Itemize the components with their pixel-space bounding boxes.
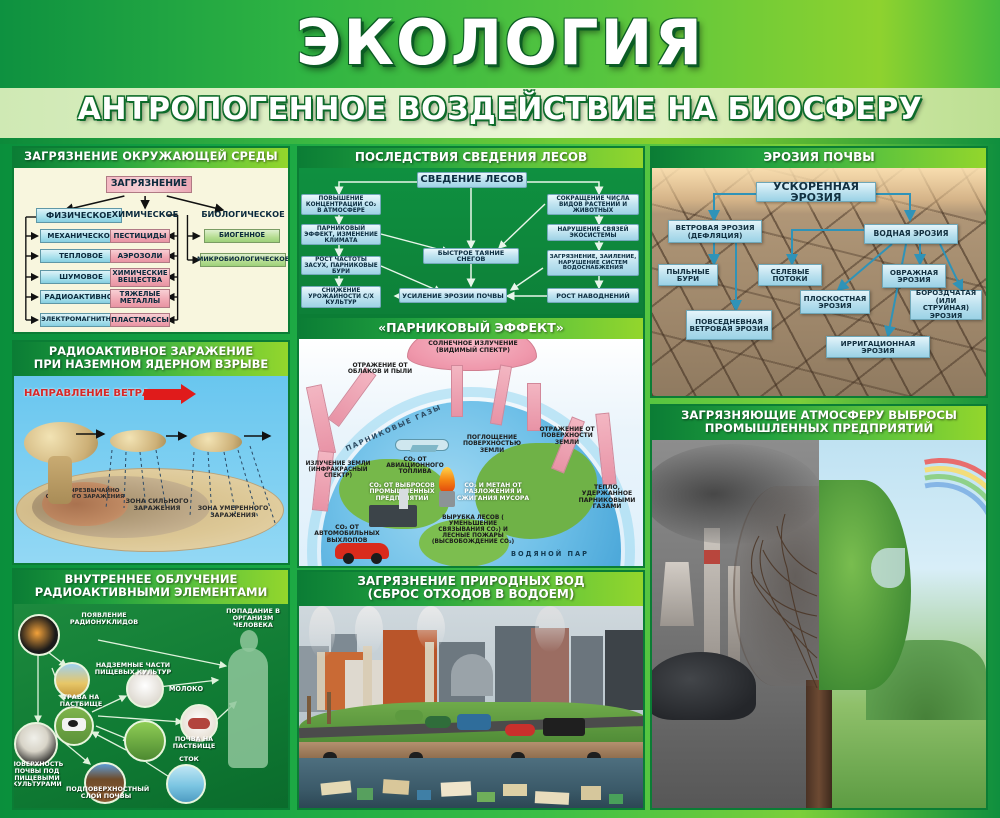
internal-label-milk: МОЛОКО bbox=[164, 686, 208, 693]
tree-face-notch bbox=[871, 548, 905, 588]
factory-icon bbox=[369, 505, 417, 527]
mushroom-cloud-stem bbox=[48, 456, 72, 504]
internal-label-pasture-soil: ПОЧВА НА ПАСТБИЩЕ bbox=[164, 736, 224, 750]
radionuclide-source-icon bbox=[18, 614, 60, 656]
panel-nuclear-title-line1: РАДИОАКТИВНОЕ ЗАРАЖЕНИЕ bbox=[16, 345, 286, 358]
smokestack-1-band bbox=[704, 550, 720, 564]
forest-right-node-1: СОКРАЩЕНИЕ ЧИСЛА ВИДОВ РАСТЕНИЙ И ЖИВОТН… bbox=[547, 194, 639, 215]
factory-stack-icon bbox=[399, 489, 408, 509]
human-body-silhouette bbox=[228, 648, 268, 768]
panel-greenhouse: «ПАРНИКОВЫЙ ЭФФЕКТ» СОЛНЕЧНОЕ ИЗЛУЧЕНИЕ … bbox=[297, 316, 645, 568]
tree-trunk bbox=[806, 680, 832, 808]
forest-center-node-2: УСИЛЕНИЕ ЭРОЗИИ ПОЧВЫ bbox=[399, 288, 507, 303]
erosion-water-item-4: ОВРАЖНАЯ ЭРОЗИЯ bbox=[882, 264, 946, 288]
trash-item-3 bbox=[383, 779, 410, 795]
panel-erosion-title: ЭРОЗИЯ ПОЧВЫ bbox=[652, 148, 986, 168]
page-title: ЭКОЛОГИЯ bbox=[0, 6, 1000, 79]
solar-radiation-label: СОЛНЕЧНОЕ ИЗЛУЧЕНИЕ (ВИДИМЫЙ СПЕКТР) bbox=[411, 341, 535, 354]
panel-pollution-title: ЗАГРЯЗНЕНИЕ ОКРУЖАЮЩЕЙ СРЕДЫ bbox=[14, 148, 288, 168]
forest-left-node-4: СНИЖЕНИЕ УРОЖАЙНОСТИ С/Х КУЛЬТУР bbox=[301, 286, 381, 308]
panel-internal-irradiation: ВНУТРЕННЕЕ ОБЛУЧЕНИЕ РАДИОАКТИВНЫМИ ЭЛЕМ… bbox=[12, 568, 290, 810]
chimney-3 bbox=[425, 642, 434, 710]
internal-label-runoff: СТОК bbox=[174, 756, 204, 763]
panel-nuclear: РАДИОАКТИВНОЕ ЗАРАЖЕНИЕ ПРИ НАЗЕМНОМ ЯДЕ… bbox=[12, 340, 290, 565]
tree-bare-1 bbox=[307, 696, 311, 724]
greenhouse-label-earth-radiation: ИЗЛУЧЕНИЕ ЗЕМЛИ (ИНФРАКРАСНЫЙ СПЕКТР) bbox=[299, 461, 379, 479]
chimney-1 bbox=[317, 652, 325, 710]
greenhouse-label-trapped-heat: ТЕПЛО, УДЕРЖАННОЕ ПАРНИКОВЫМИ ГАЗАМИ bbox=[571, 485, 643, 511]
erosion-water-head: ВОДНАЯ ЭРОЗИЯ bbox=[864, 224, 958, 244]
pollution-item-chemical-4: ТЯЖЕЛЫЕ МЕТАЛЛЫ bbox=[110, 289, 170, 308]
reflection-arrow-clouds bbox=[328, 367, 377, 427]
erosion-wind-item-1: ПЫЛЬНЫЕ БУРИ bbox=[658, 264, 718, 286]
internal-label-pasture-grass: ТРАВА НА ПАСТБИЩЕ bbox=[52, 694, 110, 708]
fallout-cloud-1 bbox=[110, 430, 166, 452]
pollution-item-biological-1: БИОГЕННОЕ bbox=[204, 229, 280, 243]
runoff-water-icon bbox=[166, 764, 206, 804]
forest-right-node-2: НАРУШЕНИЕ СВЯЗЕЙ ЭКОСИСТЕМЫ bbox=[547, 224, 639, 241]
truck-blue bbox=[457, 714, 491, 730]
page-subtitle: АНТРОПОГЕННОЕ ВОЗДЕЙСТВИЕ НА БИОСФЕРУ bbox=[0, 92, 1000, 127]
trash-item-8 bbox=[535, 791, 570, 805]
panel-water-title-line2: (СБРОС ОТХОДОВ В ВОДОЕМ) bbox=[301, 588, 641, 601]
trash-item-9 bbox=[581, 786, 601, 800]
greenhouse-label-deforestation: ВЫРУБКА ЛЕСОВ ( УМЕНЬШЕНИЕ СВЯЗЫВАНИЯ CO… bbox=[425, 515, 521, 545]
panel-water-body bbox=[299, 606, 643, 808]
panel-industrial-title: ЗАГРЯЗНЯЮЩИЕ АТМОСФЕРУ ВЫБРОСЫ ПРОМЫШЛЕН… bbox=[652, 406, 986, 440]
greenhouse-label-water-vapor: ВОДЯНОЙ ПАР bbox=[495, 551, 605, 558]
smoke-plume-4 bbox=[535, 606, 565, 652]
panel-water-pollution: ЗАГРЯЗНЕНИЕ ПРИРОДНЫХ ВОД (СБРОС ОТХОДОВ… bbox=[297, 570, 645, 810]
soil-under-crops-icon bbox=[14, 722, 58, 766]
smoke-plume-3 bbox=[417, 606, 445, 650]
incoming-arrow-1 bbox=[451, 365, 463, 417]
panel-pollution: ЗАГРЯЗНЕНИЕ ОКРУЖАЮЩЕЙ СРЕДЫ bbox=[12, 146, 290, 334]
absorption-arrow bbox=[527, 383, 541, 431]
human-head-silhouette bbox=[240, 630, 258, 652]
cooling-tower bbox=[660, 562, 694, 626]
greenhouse-label-reflection-clouds: ОТРАЖЕНИЕ ОТ ОБЛАКОВ И ПЫЛИ bbox=[345, 363, 415, 376]
meat-shape bbox=[188, 718, 210, 729]
erosion-water-item-3: ИРРИГАЦИОННАЯ ЭРОЗИЯ bbox=[826, 336, 930, 358]
panel-erosion: ЭРОЗИЯ ПОЧВЫ УСКОРЕННАЯ ЭРОЗИЯ В bbox=[650, 146, 988, 398]
greenhouse-label-cars: CO₂ ОТ АВТОМОБИЛЬНЫХ ВЫХЛОПОВ bbox=[305, 525, 389, 544]
pollution-head-biological-label: БИОЛОГИЧЕСКОЕ bbox=[200, 209, 286, 219]
erosion-wind-item-2: ПОВСЕДНЕВНАЯ ВЕТРОВАЯ ЭРОЗИЯ bbox=[686, 310, 772, 340]
car-red bbox=[505, 724, 535, 736]
building-dark-tower bbox=[605, 630, 643, 710]
panel-internal-body: ПОЯВЛЕНИЕ РАДИОНУКЛИДОВ НАДЗЕМНЫЕ ЧАСТИ … bbox=[14, 604, 288, 808]
trash-item-7 bbox=[503, 784, 527, 796]
wind-direction-arrow bbox=[144, 389, 182, 400]
panel-nuclear-body: НАПРАВЛЕНИЕ ВЕТРА ЗОНА ЧРЕЗВЫЧАЙНО ОПАСН… bbox=[14, 376, 288, 563]
forest-left-node-2: ПАРНИКОВЫЙ ЭФФЕКТ, ИЗМЕНЕНИЕ КЛИМАТА bbox=[301, 224, 381, 245]
forest-left-node-1: ПОВЫШЕНИЕ КОНЦЕНТРАЦИИ CO₂ В АТМОСФЕРЕ bbox=[301, 194, 381, 215]
car-wheel-left-icon bbox=[343, 553, 354, 564]
car-green bbox=[395, 710, 423, 722]
greenhouse-label-absorption: ПОГЛОЩЕНИЕ ПОВЕРХНОСТЬЮ ЗЕМЛИ bbox=[459, 435, 525, 454]
erosion-water-item-5: БОРОЗДЧАТАЯ (ИЛИ СТРУЙНАЯ) ЭРОЗИЯ bbox=[910, 290, 982, 320]
greenhouse-label-surface-reflection: ОТРАЖЕНИЕ ОТ ПОВЕРХНОСТИ ЗЕМЛИ bbox=[531, 427, 603, 446]
smoke-plume-1 bbox=[309, 606, 335, 658]
internal-label-radionuclides: ПОЯВЛЕНИЕ РАДИОНУКЛИДОВ bbox=[58, 612, 150, 626]
forest-left-node-3: РОСТ ЧАСТОТЫ ЗАСУХ, ПАРНИКОВЫЕ БУРИ bbox=[301, 256, 381, 275]
header-divider bbox=[0, 138, 1000, 144]
zone-strong-label: ЗОНА СИЛЬНОГО ЗАРАЖЕНИЯ bbox=[114, 498, 200, 512]
erosion-wind-head: ВЕТРОВАЯ ЭРОЗИЯ (ДЕФЛЯЦИЯ) bbox=[668, 220, 762, 243]
erosion-root: УСКОРЕННАЯ ЭРОЗИЯ bbox=[756, 182, 876, 202]
airplane-wing bbox=[409, 445, 438, 452]
panel-forest-body: СВЕДЕНИЕ ЛЕСОВ ПОВЫШЕНИЕ КОНЦЕНТРАЦИИ CO… bbox=[299, 168, 643, 315]
trash-item-2 bbox=[357, 788, 373, 800]
trash-item-4 bbox=[417, 790, 431, 800]
poster-root: ЭКОЛОГИЯ АНТРОПОГЕННОЕ ВОЗДЕЙСТВИЕ НА БИ… bbox=[0, 0, 1000, 818]
car-darkgreen bbox=[425, 716, 451, 728]
trash-item-6 bbox=[477, 792, 495, 802]
panel-industrial-title-line2: ПРОМЫШЛЕННЫХ ПРЕДПРИЯТИЙ bbox=[654, 422, 984, 435]
pollution-item-chemical-2: АЭРОЗОЛИ bbox=[110, 249, 170, 263]
pollution-item-chemical-5: ПЛАСТМАССЫ bbox=[110, 313, 170, 327]
smoke-plume-2 bbox=[355, 606, 383, 654]
trash-item-10 bbox=[609, 794, 623, 804]
building-silhouette-5 bbox=[571, 636, 603, 710]
pollution-item-chemical-3: ХИМИЧЕСКИЕ ВЕЩЕСТВА bbox=[110, 268, 170, 287]
panel-greenhouse-body: СОЛНЕЧНОЕ ИЗЛУЧЕНИЕ (ВИДИМЫЙ СПЕКТР) ОТР… bbox=[299, 339, 643, 568]
internal-label-soil-surface: ПОВЕРХНОСТЬ ПОЧВЫ ПОД ПИЩЕВЫМИ КУЛЬТУРАМ… bbox=[12, 762, 64, 789]
tree-bare-2 bbox=[327, 692, 331, 724]
panel-pollution-body: ЗАГРЯЗНЕНИЕ ФИЗИЧЕСКОЕ ХИМИЧЕСКОЕ ХИМИЧЕ… bbox=[14, 168, 288, 334]
building-dome bbox=[451, 654, 493, 696]
pollution-item-biological-2: МИКРОБИОЛОГИЧЕСКОЕ bbox=[200, 253, 286, 267]
trash-bin-icon bbox=[439, 491, 455, 507]
internal-label-crops: НАДЗЕМНЫЕ ЧАСТИ ПИЩЕВЫХ КУЛЬТУР bbox=[90, 662, 176, 676]
forest-root: СВЕДЕНИЕ ЛЕСОВ bbox=[417, 172, 527, 188]
fallout-cloud-2 bbox=[190, 432, 242, 452]
panel-water-title: ЗАГРЯЗНЕНИЕ ПРИРОДНЫХ ВОД (СБРОС ОТХОДОВ… bbox=[299, 572, 643, 606]
panel-internal-title: ВНУТРЕННЕЕ ОБЛУЧЕНИЕ РАДИОАКТИВНЫМИ ЭЛЕМ… bbox=[14, 570, 288, 604]
greenhouse-label-waste: CO₂ И МЕТАН ОТ РАЗЛОЖЕНИЯ И СЖИГАНИЯ МУС… bbox=[451, 483, 535, 502]
cow-spot-shape bbox=[68, 720, 78, 727]
panel-greenhouse-title: «ПАРНИКОВЫЙ ЭФФЕКТ» bbox=[299, 318, 643, 339]
chimney-2 bbox=[363, 646, 372, 710]
truck-black bbox=[543, 718, 585, 736]
erosion-water-item-1: СЕЛЕВЫЕ ПОТОКИ bbox=[758, 264, 822, 286]
forest-right-node-4: РОСТ НАВОДНЕНИЙ bbox=[547, 288, 639, 303]
zone-moderate-label: ЗОНА УМЕРЕННОГО ЗАРАЖЕНИЯ bbox=[192, 506, 274, 520]
dead-branches-icon bbox=[733, 488, 821, 688]
forest-right-node-3: ЗАГРЯЗНЕНИЕ, ЗАИЛЕНИЕ, НАРУШЕНИЕ СИСТЕМ … bbox=[547, 250, 639, 276]
pollution-root: ЗАГРЯЗНЕНИЕ bbox=[106, 176, 192, 193]
pasture-soil-icon bbox=[124, 720, 166, 762]
smokestack-1 bbox=[704, 528, 720, 656]
internal-label-human-intake: ПОПАДАНИЕ В ОРГАНИЗМ ЧЕЛОВЕКА bbox=[218, 608, 288, 629]
panel-forest: ПОСЛЕДСТВИЯ СВЕДЕНИЯ ЛЕСОВ bbox=[297, 146, 645, 316]
forest-center-node-1: БЫСТРОЕ ТАЯНИЕ СНЕГОВ bbox=[423, 248, 519, 264]
panel-industrial: ЗАГРЯЗНЯЮЩИЕ АТМОСФЕРУ ВЫБРОСЫ ПРОМЫШЛЕН… bbox=[650, 404, 988, 810]
panel-industrial-body bbox=[652, 440, 986, 808]
internal-label-subsoil: ПОДПОВЕРХНОСТНЫЙ СЛОЙ ПОЧВЫ bbox=[66, 786, 146, 800]
panel-nuclear-title: РАДИОАКТИВНОЕ ЗАРАЖЕНИЕ ПРИ НАЗЕМНОМ ЯДЕ… bbox=[14, 342, 288, 376]
wind-direction-label: НАПРАВЛЕНИЕ ВЕТРА bbox=[24, 388, 150, 399]
pollution-head-chemical-label: ХИМИЧЕСКОЕ bbox=[110, 209, 180, 219]
pollution-item-chemical-1: ПЕСТИЦИДЫ bbox=[110, 229, 170, 243]
panel-internal-title-line2: РАДИОАКТИВНЫМИ ЭЛЕМЕНТАМИ bbox=[16, 586, 286, 599]
erosion-water-item-2: ПЛОСКОСТНАЯ ЭРОЗИЯ bbox=[800, 290, 870, 314]
panel-forest-title: ПОСЛЕДСТВИЯ СВЕДЕНИЯ ЛЕСОВ bbox=[299, 148, 643, 168]
trash-item-5 bbox=[441, 781, 472, 797]
car-wheel-right-icon bbox=[371, 553, 382, 564]
panel-nuclear-title-line2: ПРИ НАЗЕМНОМ ЯДЕРНОМ ВЗРЫВЕ bbox=[16, 358, 286, 371]
panel-erosion-body: УСКОРЕННАЯ ЭРОЗИЯ ВЕТРОВАЯ ЭРОЗИЯ (ДЕФЛЯ… bbox=[652, 168, 986, 397]
wind-arrow-head bbox=[181, 384, 196, 404]
